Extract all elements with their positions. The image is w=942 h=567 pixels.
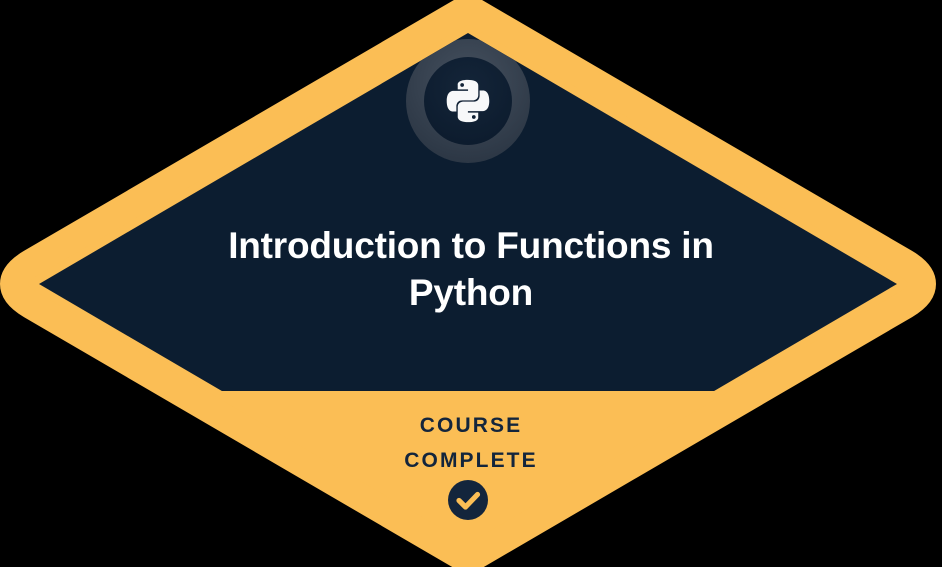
course-completion-badge: Introduction to Functions in Python COUR… — [0, 0, 942, 567]
badge-graphic — [0, 0, 942, 567]
check-circle-icon — [448, 480, 488, 520]
logo-ring-inner — [424, 57, 512, 145]
